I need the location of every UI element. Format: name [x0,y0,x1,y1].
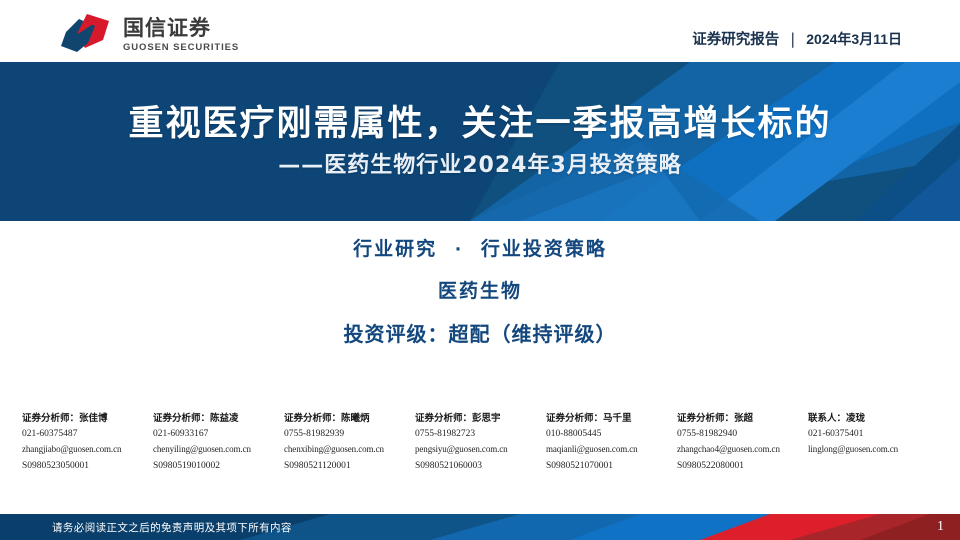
logo-text-en: GUOSEN SECURITIES [123,42,239,53]
logo-text-cn: 国信证券 [123,17,239,39]
analyst-phone: 021-60933167 [153,426,284,442]
contact-person-phone: 021-60375401 [808,426,939,442]
analyst-email[interactable]: pengsiyu@guosen.com.cn [415,442,546,457]
company-logo: 国信证券 GUOSEN SECURITIES [57,12,239,56]
analyst-cert-number: S0980521060003 [415,458,546,474]
analyst-cert-number: S0980521070001 [546,458,677,474]
analyst-cert-number: S0980522080001 [677,458,808,474]
guosen-logo-icon [57,12,113,56]
logo-wordmark: 国信证券 GUOSEN SECURITIES [123,15,239,53]
header-report-meta: 证券研究报告 | 2024年3月11日 [692,28,902,49]
analyst-phone: 010-88005445 [546,426,677,442]
footer-disclaimer: 请务必阅读正文之后的免责声明及其项下所有内容 [52,514,292,540]
research-category-row: 行业研究 · 行业投资策略 [0,240,960,259]
analyst-phone: 0755-81982939 [284,426,415,442]
investment-rating: 投资评级：超配（维持评级） [0,324,960,344]
page-number: 1 [937,514,944,540]
analyst-name: 证券分析师：彭思宇 [415,412,546,426]
report-cover-page: 国信证券 GUOSEN SECURITIES 证券研究报告 | 2024年3月1… [0,0,960,540]
contact-person-name: 联系人：凌珑 [808,412,939,426]
contact-column: 证券分析师：彭思宇 0755-81982723 pengsiyu@guosen.… [415,412,546,474]
strategy-type-label: 行业投资策略 [481,238,607,260]
analyst-name: 证券分析师：陈益凌 [153,412,284,426]
meta-separator-dot: · [446,240,472,260]
report-date: 2024年3月11日 [806,29,902,49]
analyst-cert-number: S0980523050001 [22,458,153,474]
analyst-email[interactable]: chenxibing@guosen.com.cn [284,442,415,457]
analyst-phone: 0755-81982723 [415,426,546,442]
research-type-label: 行业研究 [353,238,437,260]
contact-person-email[interactable]: linglong@guosen.com.cn [808,442,939,457]
analyst-phone: 0755-81982940 [677,426,808,442]
report-type-label: 证券研究报告 [692,28,779,49]
contact-column: 证券分析师：张佳博 021-60375487 zhangjiabo@guosen… [22,412,153,474]
analyst-email[interactable]: zhangchao4@guosen.com.cn [677,442,808,457]
analyst-name: 证券分析师：陈曦炳 [284,412,415,426]
banner-text-block: 重视医疗刚需属性，关注一季报高增长标的 ——医药生物行业2024年3月投资策略 [0,62,960,221]
report-subtitle: ——医药生物行业2024年3月投资策略 [278,154,682,178]
page-footer: 请务必阅读正文之后的免责声明及其项下所有内容 1 [0,514,960,540]
page-header: 国信证券 GUOSEN SECURITIES 证券研究报告 | 2024年3月1… [0,0,960,62]
contact-column: 证券分析师：陈益凌 021-60933167 chenyiling@guosen… [153,412,284,474]
report-title: 重视医疗刚需属性，关注一季报高增长标的 [128,105,831,144]
header-divider: | [788,30,797,48]
contact-column: 证券分析师：陈曦炳 0755-81982939 chenxibing@guose… [284,412,415,474]
analyst-email[interactable]: chenyiling@guosen.com.cn [153,442,284,457]
contact-column: 证券分析师：马千里 010-88005445 maqianli@guosen.c… [546,412,677,474]
contact-column: 证券分析师：张超 0755-81982940 zhangchao4@guosen… [677,412,808,474]
analyst-name: 证券分析师：马千里 [546,412,677,426]
analyst-name: 证券分析师：张超 [677,412,808,426]
analyst-email[interactable]: maqianli@guosen.com.cn [546,442,677,457]
analyst-phone: 021-60375487 [22,426,153,442]
sector-label: 医药生物 [0,282,960,301]
report-meta-block: 行业研究 · 行业投资策略 医药生物 投资评级：超配（维持评级） [0,240,960,344]
analyst-name: 证券分析师：张佳博 [22,412,153,426]
analyst-cert-number: S0980519010002 [153,458,284,474]
title-banner: 重视医疗刚需属性，关注一季报高增长标的 ——医药生物行业2024年3月投资策略 [0,62,960,221]
analyst-cert-number: S0980521120001 [284,458,415,474]
analyst-email[interactable]: zhangjiabo@guosen.com.cn [22,442,153,457]
contact-column: 联系人：凌珑 021-60375401 linglong@guosen.com.… [808,412,939,458]
analyst-contacts: 证券分析师：张佳博 021-60375487 zhangjiabo@guosen… [22,412,942,474]
